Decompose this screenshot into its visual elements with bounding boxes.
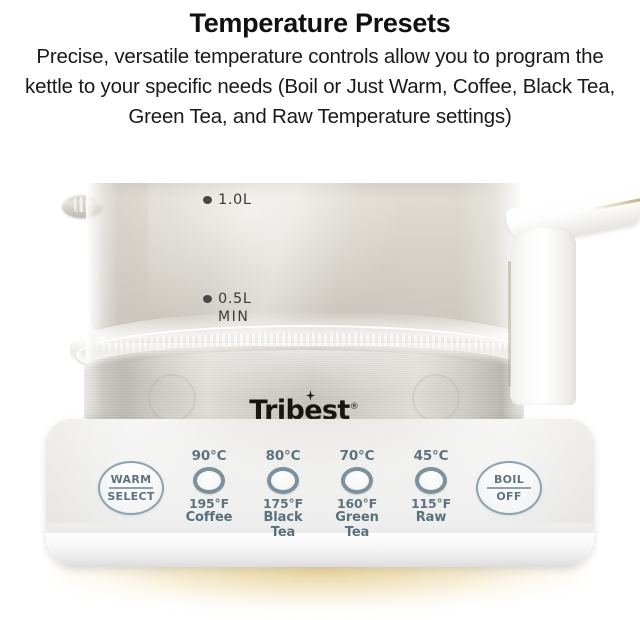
preset-black-tea-label: Black Tea [252,511,314,540]
warm-select-divider [109,487,153,489]
kettle-handle [488,189,640,399]
preset-black-tea-celsius: 80°C [266,449,301,464]
preset-raw-indicator-icon[interactable] [415,467,447,494]
preset-green-tea-label: Green Tea [326,511,388,540]
preset-raw-celsius: 45°C [414,449,449,464]
warm-select-line1: WARM [111,473,152,486]
warm-select-button[interactable]: WARM SELECT [98,461,164,515]
volume-marking-min: MIN [218,309,249,325]
boil-off-button[interactable]: BOIL OFF [476,461,542,515]
handle-edge-line [508,261,511,387]
trademark-symbol: ® [350,402,359,412]
volume-marking-05l-label: 0.5L [218,291,252,307]
page-title: Temperature Presets [0,6,640,40]
preset-black-tea-fahrenheit: 175°F [263,497,303,511]
preset-raw-label: Raw [416,511,447,526]
preset-coffee-indicator-icon[interactable] [193,467,225,494]
preset-green-tea-fahrenheit: 160°F [337,497,377,511]
volume-marking-05l: 0.5L [203,291,252,307]
boil-off-divider [487,487,531,489]
preset-coffee-celsius: 90°C [192,449,227,464]
preset-coffee-fahrenheit: 195°F [189,497,229,511]
carafe-left-edge [86,183,102,369]
product-photo: 1.0L 0.5L MIN Tribest® WARM SELECT [0,183,640,620]
header-text-block: Temperature Presets Precise, versatile t… [0,0,640,136]
kettle-base: WARM SELECT 90°C 195°F Coffee 80°C 175°F… [46,419,594,567]
page-subtitle: Precise, versatile temperature controls … [14,42,626,132]
preset-green-tea-indicator-icon[interactable] [341,467,373,494]
preset-black-tea-indicator-icon[interactable] [267,467,299,494]
control-panel: WARM SELECT 90°C 195°F Coffee 80°C 175°F… [46,449,594,535]
preset-black-tea[interactable]: 80°C 175°F Black Tea [252,449,314,540]
volume-dot-icon [203,295,212,303]
volume-dot-icon [203,196,212,204]
volume-marking-1l: 1.0L [203,192,252,208]
preset-raw[interactable]: 45°C 115°F Raw [400,449,462,526]
boil-off-line2: OFF [496,490,521,503]
volume-marking-1l-label: 1.0L [218,192,252,208]
preset-group: 90°C 195°F Coffee 80°C 175°F Black Tea 7… [178,449,462,540]
boil-off-line1: BOIL [494,473,524,486]
preset-green-tea-celsius: 70°C [340,449,375,464]
preset-coffee[interactable]: 90°C 195°F Coffee [178,449,240,526]
preset-green-tea[interactable]: 70°C 160°F Green Tea [326,449,388,540]
preset-raw-fahrenheit: 115°F [411,497,451,511]
warm-select-line2: SELECT [107,490,154,503]
handle-column [510,227,576,405]
preset-coffee-label: Coffee [186,511,233,526]
